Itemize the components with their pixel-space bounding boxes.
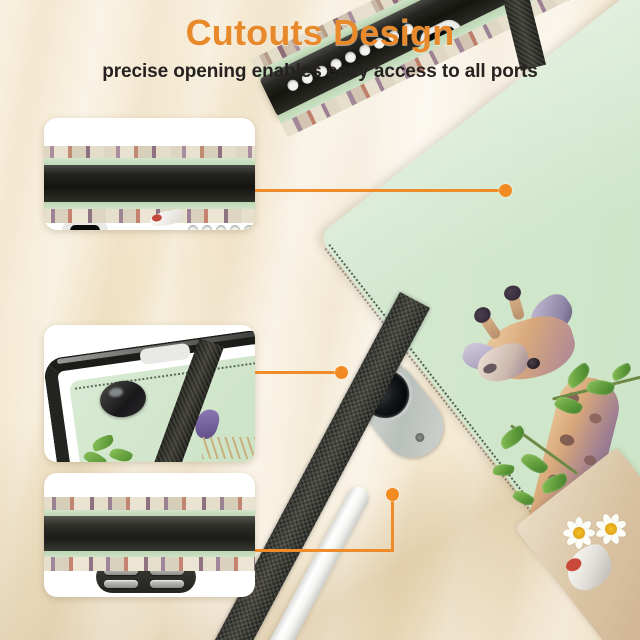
floral-pattern-icon — [44, 557, 255, 571]
page-title: Cutouts Design — [0, 14, 640, 52]
callout-usb-c-port[interactable] — [44, 118, 255, 230]
callout-rear-camera[interactable] — [44, 325, 255, 462]
camera-flash-icon — [414, 431, 427, 444]
black-bumper — [44, 165, 255, 203]
daisy-flower-icon — [562, 516, 596, 550]
page-subtitle: precise opening enables easy access to a… — [0, 61, 640, 83]
callout-connector-line-2 — [255, 371, 341, 374]
speaker-holes-icon — [188, 225, 255, 230]
callout-anchor-dot-3 — [386, 488, 399, 501]
callout-connector-line-3b — [391, 497, 394, 550]
giraffe-horn-2 — [479, 313, 503, 341]
black-bumper — [44, 516, 255, 552]
callout-connector-line-3a — [255, 549, 394, 552]
product-marketing-banner: Cutouts Design precise opening enables e… — [0, 0, 640, 640]
daisy-flower-icon — [594, 512, 628, 546]
header: Cutouts Design precise opening enables e… — [0, 14, 640, 83]
callout-anchor-dot-2 — [335, 366, 348, 379]
callout-volume-buttons[interactable] — [44, 473, 255, 597]
callout-anchor-dot-1 — [499, 184, 512, 197]
leaf-icon — [492, 463, 514, 478]
leaf-icon — [497, 424, 528, 450]
floral-pattern-icon — [44, 497, 255, 511]
callout-connector-line-1 — [255, 189, 505, 192]
